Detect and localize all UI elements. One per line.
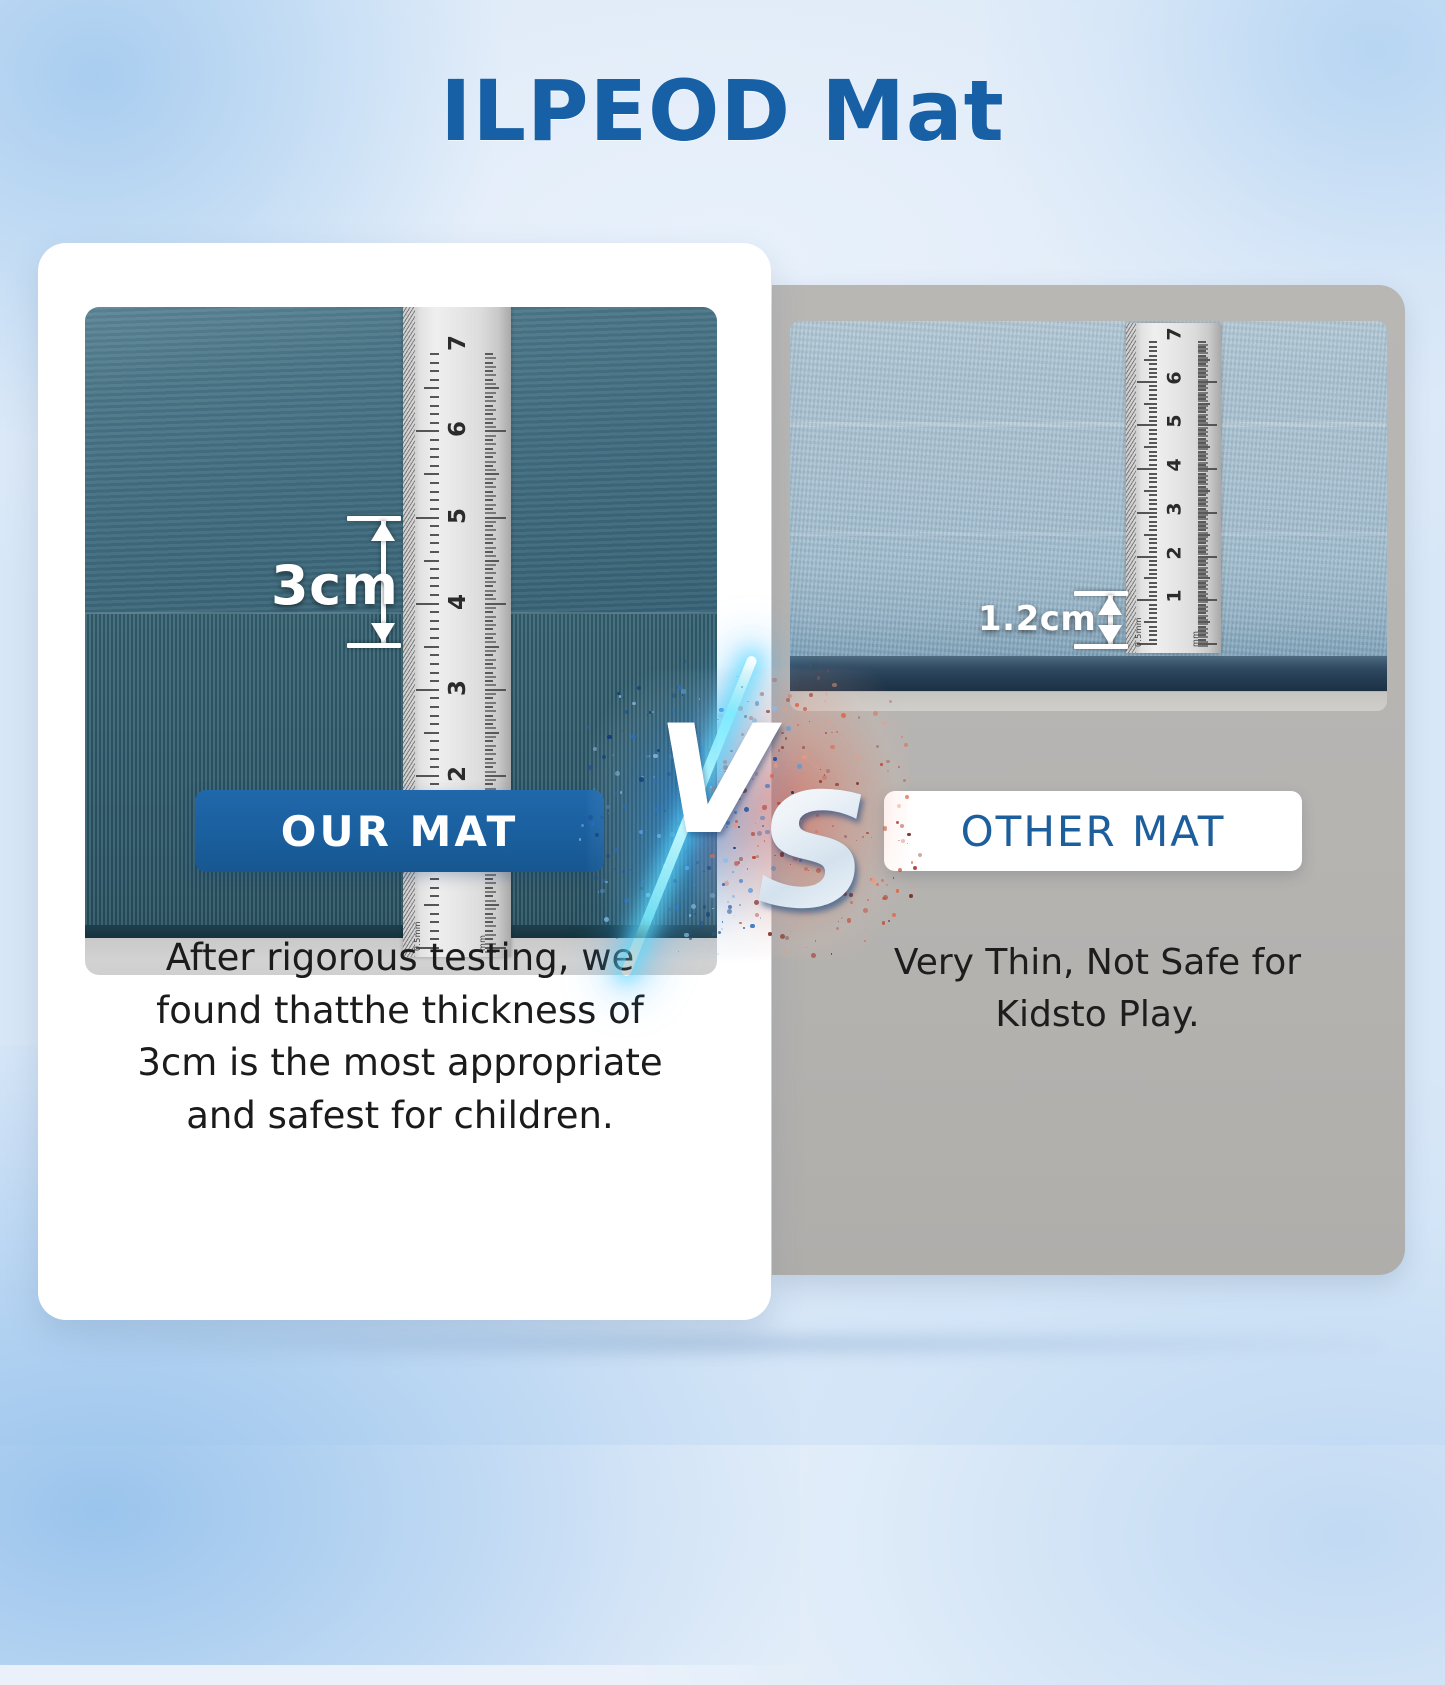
measure-cap-bottom bbox=[347, 643, 401, 648]
infographic-canvas: ILPEOD Mat 76543210.5mmmm bbox=[0, 0, 1445, 1445]
other-mat-photo: 76543210.5mmmm 1.2cm bbox=[790, 321, 1387, 711]
measure-cap-bottom bbox=[1074, 644, 1128, 649]
ruler-ticks-right bbox=[1198, 323, 1221, 653]
other-mat-edge bbox=[790, 656, 1387, 691]
our-mat-side-wall bbox=[85, 614, 717, 928]
other-mat-badge-label: OTHER MAT bbox=[961, 807, 1226, 856]
measure-arrowhead-down bbox=[371, 623, 395, 643]
our-mat-badge-label: OUR MAT bbox=[281, 807, 518, 856]
other-mat-badge[interactable]: OTHER MAT bbox=[884, 791, 1302, 871]
our-mat-badge[interactable]: OUR MAT bbox=[195, 790, 604, 872]
ruler-ticks-left bbox=[1136, 323, 1157, 653]
our-mat-photo: 76543210.5mmmm 3cm bbox=[85, 307, 717, 975]
other-mat-seam-lower bbox=[790, 532, 1387, 536]
other-mat-measure-label: 1.2cm bbox=[978, 599, 1096, 639]
measure-arrowhead-up bbox=[1098, 595, 1122, 615]
other-mat-seam-upper bbox=[790, 422, 1387, 427]
our-mat-description: After rigorous testing, we found thatthe… bbox=[120, 932, 680, 1142]
our-mat-measure-label: 3cm bbox=[271, 554, 398, 617]
measure-arrowhead-down bbox=[1098, 625, 1122, 645]
ground-shadow bbox=[90, 1331, 1380, 1357]
other-mat-description: Very Thin, Not Safe for Kidsto Play. bbox=[870, 937, 1325, 1041]
measure-arrowhead-up bbox=[371, 521, 395, 541]
page-title: ILPEOD Mat bbox=[0, 62, 1445, 160]
our-mat-panel: 76543210.5mmmm 3cm bbox=[38, 243, 771, 1320]
other-mat-floor bbox=[790, 692, 1387, 712]
other-mat-ruler: 76543210.5mmmm bbox=[1126, 323, 1221, 653]
other-mat-panel: 76543210.5mmmm 1.2cm bbox=[772, 285, 1405, 1275]
other-mat-measure-arrow bbox=[1092, 595, 1130, 645]
